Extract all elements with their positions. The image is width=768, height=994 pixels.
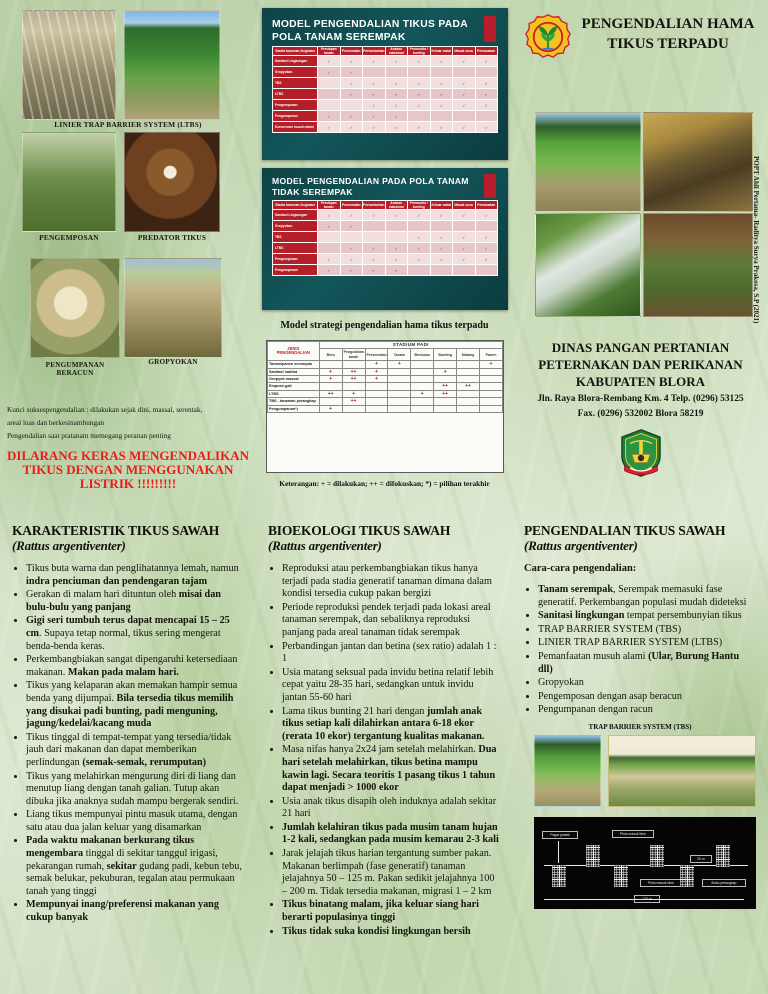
list-item: Tikus yang kelaparan akan memakan hampir… — [26, 680, 244, 730]
table-cell: ✓ — [453, 56, 476, 67]
table-cell: ✓ — [475, 56, 498, 67]
strategy-stage-5: Bunting — [434, 349, 457, 361]
key-success-line3: Pengendalian saat pratanam memegang pera… — [7, 431, 171, 440]
photo-gropyokan — [124, 258, 222, 358]
warning-line3: LISTRIK !!!!!!!!! — [0, 476, 256, 491]
table-row-label: Sanitasi Lingkungan — [273, 56, 318, 67]
table-cell: ✓ — [363, 254, 386, 265]
slide2-col-2: Persemaian — [340, 201, 363, 210]
table-cell — [453, 221, 476, 232]
author-credit: POPT Ahli Pertama- Raditya Surya Prakosa… — [752, 100, 766, 380]
table-cell: ✓ — [408, 89, 431, 100]
address-line-1: Jln. Raya Blora-Rembang Km. 4 Telp. (029… — [513, 394, 768, 404]
table-row-label: LTBS — [273, 243, 318, 254]
table-cell: ✓ — [475, 78, 498, 89]
caption-pengumpanan-l2: BERACUN — [30, 369, 120, 377]
table-cell: ✓ — [340, 122, 363, 133]
slide1-col-0: Stadia tanaman /kegiatan — [273, 47, 318, 56]
list-item: Lama tikus bunting 21 hari dengan jumlah… — [282, 706, 500, 744]
strategy-row-label: Tanam/panen serempak — [268, 361, 320, 368]
list-item: Pengumpanan dengan racun — [538, 704, 756, 717]
table-cell: ✓ — [363, 89, 386, 100]
strategy-cell — [388, 368, 411, 375]
table-cell: ✓ — [363, 111, 386, 122]
table-cell: ✓ — [340, 56, 363, 67]
pengendalian-species: (Rattus argentiventer) — [524, 538, 756, 553]
table-cell: ✓ — [430, 100, 453, 111]
table-cell: ✓ — [453, 89, 476, 100]
table-cell: ✓ — [385, 100, 408, 111]
table-row: Pengumpanan✓✓✓✓ — [273, 111, 498, 122]
slide2-col-7: Masak susu — [453, 201, 476, 210]
slide1-col-8: Pemasakan — [475, 47, 498, 56]
left-photo-column: LINIER TRAP BARRIER SYSTEM (LTBS) PENGEM… — [0, 0, 256, 513]
slide-model-tidak-serempak: MODEL PENGENDALIAN PADA POLA TANAM TIDAK… — [262, 168, 508, 310]
caption-pengemposan: PENGEMPOSAN — [22, 233, 116, 242]
diagram-arrow-pagar — [558, 841, 559, 863]
slide2-accent-bar — [484, 174, 496, 198]
table-cell — [453, 111, 476, 122]
table-row-label: LTBS — [273, 89, 318, 100]
strategy-cell — [342, 361, 365, 368]
table-cell: ✓ — [475, 232, 498, 243]
slide1-col-5: Premordia / bunting — [408, 47, 431, 56]
table-row-label: Gropyokan — [273, 67, 318, 78]
photo-rat-in-field — [643, 112, 753, 212]
strategy-group-header-row: JENIS PENGENDALIAN STADIUM PADI — [268, 342, 503, 349]
table-cell: ✓ — [363, 243, 386, 254]
karakteristik-title: KARAKTERISTIK TIKUS SAWAH — [12, 523, 219, 538]
photo-rat-traps — [643, 213, 753, 317]
table-cell: ✓ — [363, 100, 386, 111]
strategy-cell: + — [365, 376, 388, 383]
table-cell: ✓ — [430, 232, 453, 243]
slide1-col-4: Anakan maksimal — [385, 47, 408, 56]
slide1-header-row: Stadia tanaman /kegiatan Persiapan tanam… — [273, 47, 498, 56]
slide1-accent-bar — [484, 16, 496, 42]
table-cell: ✓ — [363, 78, 386, 89]
strategy-cell: + — [319, 376, 342, 383]
slide2-col-5: Premordia / bunting — [408, 201, 431, 210]
diagram-label-pintu-atas: Pintu masuk bbm — [612, 830, 654, 838]
strategy-cell — [365, 383, 388, 390]
list-item: Masa nifas hanya 2x24 jam setelah melahi… — [282, 744, 500, 794]
table-cell: ✓ — [408, 56, 431, 67]
list-item: Gropyokan — [538, 677, 756, 690]
caption-pengumpanan-l1: PENGUMPANAN — [30, 361, 120, 369]
column-bioekologi: BIOEKOLOGI TIKUS SAWAH (Rattus argentive… — [256, 513, 512, 994]
strategy-col-jenis: JENIS PENGENDALIAN — [268, 342, 320, 361]
strategy-cell — [434, 405, 457, 412]
table-row: LTBS++++++ — [268, 390, 503, 397]
pengendalian-title: PENGENDALIAN TIKUS SAWAH — [524, 523, 725, 538]
table-cell — [318, 100, 341, 111]
table-cell: ✓ — [475, 100, 498, 111]
caption-gropyokan: GROPYOKAN — [124, 358, 222, 366]
table-cell: ✓ — [385, 56, 408, 67]
table-cell: ✓ — [318, 67, 341, 78]
table-cell: ✓ — [363, 56, 386, 67]
table-row: LTBS✓✓✓✓✓✓✓ — [273, 89, 498, 100]
photo-pengemposan — [22, 132, 116, 232]
table-cell: ✓ — [340, 243, 363, 254]
slide1-title: MODEL PENGENDALIAN TIKUS PADA POLA TANAM… — [272, 18, 480, 44]
strategy-cell — [319, 383, 342, 390]
list-item: Pemanfaatan musuh alami (Ular, Burung Ha… — [538, 651, 756, 676]
slide2-body: Sanitasi Lingkungan✓✓✓✓✓✓✓✓Gropyokan✓✓TB… — [273, 210, 498, 276]
strategy-cell — [480, 383, 503, 390]
photo-predator-tikus — [124, 132, 220, 232]
strategy-cell: ++ — [342, 368, 365, 375]
slide2-table: Stadia tanaman /kegiatan Persiapan tanam… — [272, 200, 498, 276]
strategy-table: JENIS PENGENDALIAN STADIUM PADI Bera Pen… — [267, 341, 503, 413]
table-cell: ✓ — [385, 254, 408, 265]
table-cell: ✓ — [430, 56, 453, 67]
table-cell — [340, 100, 363, 111]
list-item: Periode reproduksi pendek terjadi pada l… — [282, 602, 500, 640]
list-item: Tikus binatang malam, jika keluar siang … — [282, 899, 500, 924]
brochure-page: LINIER TRAP BARRIER SYSTEM (LTBS) PENGEM… — [0, 0, 768, 994]
list-item: Perbandingan jantan dan betina (sex rati… — [282, 641, 500, 666]
table-cell: ✓ — [340, 221, 363, 232]
strategy-cell — [457, 390, 480, 397]
strategy-cell — [388, 376, 411, 383]
list-item: Liang tikus mempunyai pintu masuk utama,… — [26, 809, 244, 834]
table-cell — [385, 221, 408, 232]
column-pengendalian: PENGENDALIAN TIKUS SAWAH (Rattus argenti… — [512, 513, 768, 994]
list-item: Tanam serempak, Serempak memasuki fase g… — [538, 584, 756, 609]
table-cell: ✓ — [408, 254, 431, 265]
table-cell — [453, 265, 476, 276]
kabupaten-blora-seal-icon — [618, 428, 664, 478]
table-cell: ✓ — [453, 243, 476, 254]
table-cell — [363, 67, 386, 78]
table-cell: ✓ — [430, 78, 453, 89]
table-cell: ✓ — [318, 265, 341, 276]
table-cell — [475, 67, 498, 78]
slide1-col-7: Masak susu — [453, 47, 476, 56]
table-row: LTBS✓✓✓✓✓✓✓ — [273, 243, 498, 254]
bioekologi-title: BIOEKOLOGI TIKUS SAWAH — [268, 523, 450, 538]
tbs-photo-row — [524, 735, 756, 809]
slide1-body: Sanitasi Lingkungan✓✓✓✓✓✓✓✓Gropyokan✓✓TB… — [273, 56, 498, 133]
table-cell: ✓ — [318, 210, 341, 221]
key-success-line2: areal luas dan berkesinambungan — [7, 418, 104, 427]
table-cell: ✓ — [385, 243, 408, 254]
table-cell: ✓ — [453, 232, 476, 243]
strategy-cell: + — [319, 405, 342, 412]
table-cell: ✓ — [453, 254, 476, 265]
table-cell: ✓ — [363, 210, 386, 221]
table-cell — [385, 232, 408, 243]
caption-ltbs: LINIER TRAP BARRIER SYSTEM (LTBS) — [0, 120, 256, 129]
table-row: TBS✓✓✓✓ — [273, 232, 498, 243]
strategy-stage-6: Matang — [457, 349, 480, 361]
strategy-stage-3: Tanam — [388, 349, 411, 361]
strategy-cell — [457, 368, 480, 375]
top-section: LINIER TRAP BARRIER SYSTEM (LTBS) PENGEM… — [0, 0, 768, 513]
strategy-group-header: STADIUM PADI — [319, 342, 502, 349]
table-row-label: Sanitasi Lingkungan — [273, 210, 318, 221]
list-item: TRAP BARRIER SYSTEM (TBS) — [538, 624, 756, 637]
strategy-cell — [434, 376, 457, 383]
strategy-title: Model strategi pengendalian hama tikus t… — [256, 320, 513, 331]
table-cell — [430, 111, 453, 122]
table-row: Sanitasi Lingkungan✓✓✓✓✓✓✓✓ — [273, 56, 498, 67]
table-cell: ✓ — [408, 100, 431, 111]
strategy-stage-7: Panen — [480, 349, 503, 361]
slide2-col-8: Pemasakan — [475, 201, 498, 210]
strategy-cell: + — [480, 361, 503, 368]
strategy-cell: + — [388, 361, 411, 368]
strategy-cell — [342, 405, 365, 412]
table-cell: ✓ — [385, 122, 408, 133]
strategy-stage-2: Persemaian — [365, 349, 388, 361]
slide2-title: MODEL PENGENDALIAN PADA POLA TANAM TIDAK… — [272, 176, 478, 198]
diagram-trap-4 — [650, 845, 664, 867]
strategy-cell — [411, 398, 434, 405]
table-cell: ✓ — [430, 122, 453, 133]
slide2-col-6: Keluar malai — [430, 201, 453, 210]
address-line-2: Fax. (0296) 532002 Blora 58219 — [513, 409, 768, 419]
table-cell: ✓ — [408, 122, 431, 133]
slide1-col-6: Keluar malai — [430, 47, 453, 56]
list-item: Tikus buta warna dan penglihatannya lema… — [26, 563, 244, 588]
table-cell: ✓ — [385, 111, 408, 122]
table-cell: ✓ — [453, 78, 476, 89]
org-line-3: KABUPATEN BLORA — [513, 374, 768, 390]
warning-line2: TIKUS DENGAN MENGGUNAKAN — [0, 462, 256, 477]
list-item: Reproduksi atau perkembangbiakan tikus h… — [282, 563, 500, 601]
strategy-cell — [480, 398, 503, 405]
table-cell: ✓ — [430, 243, 453, 254]
table-cell — [408, 221, 431, 232]
table-cell: ✓ — [340, 111, 363, 122]
tbs-schematic-diagram: Pagar plastik Pintu masuk bbm Pintu masu… — [534, 817, 756, 909]
strategy-cell — [457, 361, 480, 368]
table-cell: ✓ — [475, 243, 498, 254]
table-cell — [408, 111, 431, 122]
strategy-stage-1: Pengolahan tanah — [342, 349, 365, 361]
table-cell: ✓ — [340, 78, 363, 89]
diagram-label-pintu-bawah: Pintu masuk bbm — [640, 879, 682, 887]
table-row: Sanitasi Lingkungan✓✓✓✓✓✓✓✓ — [273, 210, 498, 221]
table-row: Emposs-gali++++ — [268, 383, 503, 390]
table-row: Tanam/panen serempak+++ — [268, 361, 503, 368]
strategy-cell — [365, 390, 388, 397]
table-cell — [318, 243, 341, 254]
slide2-col-4: Anakan maksimal — [385, 201, 408, 210]
strategy-row-label: Pengumpanan*) — [268, 405, 320, 412]
table-cell — [475, 265, 498, 276]
bottom-section: KARAKTERISTIK TIKUS SAWAH (Rattus argent… — [0, 513, 768, 994]
table-cell: ✓ — [340, 210, 363, 221]
list-item: Jarak jelajah tikus harian tergantung su… — [282, 848, 500, 898]
strategy-cell — [480, 376, 503, 383]
table-cell: ✓ — [318, 254, 341, 265]
strategy-cell — [457, 376, 480, 383]
table-cell — [363, 232, 386, 243]
strategy-cell — [388, 383, 411, 390]
photo-ltbs-right — [124, 10, 220, 120]
table-cell: ✓ — [475, 122, 498, 133]
list-item: Perkembangbiakan sangat dipengaruhi kete… — [26, 654, 244, 679]
strategy-cell: ++ — [342, 376, 365, 383]
table-cell: ✓ — [408, 243, 431, 254]
strategy-row-label: Emposs-gali — [268, 383, 320, 390]
table-row: Sanitasi habitat+++++ — [268, 368, 503, 375]
strategy-stage-0: Bera — [319, 349, 342, 361]
strategy-cell: + — [365, 361, 388, 368]
table-cell — [340, 232, 363, 243]
strategy-cell — [411, 405, 434, 412]
table-cell: ✓ — [408, 78, 431, 89]
table-cell: ✓ — [385, 89, 408, 100]
list-item: Tikus yang melahirkan mengurung diri di … — [26, 771, 244, 809]
table-row-label: Pengumpanan — [273, 111, 318, 122]
list-item: Pengemposan dengan asap beracun — [538, 691, 756, 704]
pengendalian-heading: PENGENDALIAN TIKUS SAWAH (Rattus argenti… — [524, 523, 756, 553]
strategy-cell — [411, 383, 434, 390]
table-cell: ✓ — [408, 210, 431, 221]
strategy-cell — [411, 361, 434, 368]
photo-tbs-linear — [608, 735, 756, 807]
key-success-line1: Kunci suksespengendalian : dilakukan sej… — [7, 405, 202, 414]
table-cell: ✓ — [453, 100, 476, 111]
strategy-jenis-l2: PENGENDALIAN — [277, 350, 311, 355]
table-cell: ✓ — [340, 67, 363, 78]
table-cell — [363, 221, 386, 232]
strategy-stage-4: Bertunas — [411, 349, 434, 361]
table-row: Pengemposan✓✓✓✓✓✓ — [273, 100, 498, 111]
strategy-cell — [480, 405, 503, 412]
photo-tbs-field — [535, 112, 641, 212]
caption-predator-tikus: PREDATOR TIKUS — [124, 233, 220, 242]
table-row: Pengumpanan✓✓✓✓ — [273, 265, 498, 276]
list-item: Usia anak tikus disapih oleh induknya ad… — [282, 796, 500, 821]
diagram-trap-3 — [614, 865, 628, 887]
table-cell: ✓ — [453, 122, 476, 133]
karakteristik-list: Tikus buta warna dan penglihatannya lema… — [12, 563, 244, 925]
photo-fumigation — [535, 213, 641, 317]
strategy-table-wrap: JENIS PENGENDALIAN STADIUM PADI Bera Pen… — [266, 340, 504, 473]
bioekologi-list: Reproduksi atau perkembangbiakan tikus h… — [268, 563, 500, 938]
list-item: LINIER TRAP BARRIER SYSTEM (LTBS) — [538, 637, 756, 650]
table-cell: ✓ — [340, 265, 363, 276]
karakteristik-species: (Rattus argentiventer) — [12, 538, 244, 553]
diagram-trap-1 — [552, 865, 566, 887]
strategy-cell: + — [319, 368, 342, 375]
list-item: Tikus tinggal di tempat-tempat yang ters… — [26, 732, 244, 770]
strategy-cell — [480, 390, 503, 397]
table-cell: ✓ — [318, 56, 341, 67]
karakteristik-heading: KARAKTERISTIK TIKUS SAWAH (Rattus argent… — [12, 523, 244, 553]
table-cell: ✓ — [385, 265, 408, 276]
page-title-line1: PENGENDALIAN HAMA — [575, 16, 761, 33]
table-cell — [475, 111, 498, 122]
table-cell: ✓ — [475, 254, 498, 265]
table-cell — [430, 265, 453, 276]
strategy-cell — [480, 368, 503, 375]
strategy-cell: + — [365, 368, 388, 375]
table-row: Konservasi musuh alami✓✓✓✓✓✓✓✓ — [273, 122, 498, 133]
table-row-label: TBS — [273, 232, 318, 243]
table-row: Pengemposan✓✓✓✓✓✓✓✓ — [273, 254, 498, 265]
strategy-cell — [457, 405, 480, 412]
table-row-label: Pengumpanan — [273, 265, 318, 276]
table-cell: ✓ — [340, 254, 363, 265]
strategy-cell: + — [434, 368, 457, 375]
table-row-label: TBS — [273, 78, 318, 89]
table-row-label: Gropyokan — [273, 221, 318, 232]
strategy-cell — [319, 361, 342, 368]
strategy-cell — [434, 361, 457, 368]
table-cell: ✓ — [430, 254, 453, 265]
table-cell — [408, 265, 431, 276]
table-cell: ✓ — [430, 89, 453, 100]
diagram-trap-5 — [680, 865, 694, 887]
table-cell — [318, 89, 341, 100]
strategy-cell — [457, 398, 480, 405]
slide1-col-3: Pertumbuhan — [363, 47, 386, 56]
warning-line1: DILARANG KERAS MENGENDALIKAN — [0, 448, 256, 463]
slide2-col-1: Persiapan tanam — [318, 201, 341, 210]
table-cell: ✓ — [475, 210, 498, 221]
table-cell: ✓ — [318, 221, 341, 232]
table-row: Gropyok massal++++ — [268, 376, 503, 383]
table-cell: ✓ — [408, 232, 431, 243]
strategy-cell — [388, 405, 411, 412]
table-row-label: Pengemposan — [273, 100, 318, 111]
table-cell — [453, 67, 476, 78]
table-cell: ✓ — [453, 210, 476, 221]
tbs-figure-caption: TRAP BARRIER SYSTEM (TBS) — [524, 723, 756, 731]
strategy-cell: + — [411, 390, 434, 397]
table-cell: ✓ — [363, 122, 386, 133]
table-cell: ✓ — [318, 111, 341, 122]
middle-tables-column: MODEL PENGENDALIAN TIKUS PADA POLA TANAM… — [256, 0, 513, 513]
table-cell — [385, 67, 408, 78]
photo-ltbs-left — [22, 10, 116, 120]
table-cell — [318, 78, 341, 89]
photo-tbs-plot — [534, 735, 601, 807]
list-item: Usia matang seksual pada invidu betina r… — [282, 667, 500, 705]
slide1-table: Stadia tanaman /kegiatan Persiapan tanam… — [272, 46, 498, 133]
strategy-row-label: LTBS — [268, 390, 320, 397]
strategy-row-label: Sanitasi habitat — [268, 368, 320, 375]
table-cell: ✓ — [340, 89, 363, 100]
slide2-col-0: Stadia tanaman /kegiatan — [273, 201, 318, 210]
strategy-cell — [365, 405, 388, 412]
table-cell: ✓ — [385, 210, 408, 221]
photo-pengumpanan-beracun — [30, 258, 120, 358]
diagram-label-jarak-20: 20 m — [690, 855, 712, 863]
strategy-cell: ++ — [434, 383, 457, 390]
org-line-2: PETERNAKAN DAN PERIKANAN — [513, 357, 768, 373]
diagram-label-bubu: Bubu perangkap — [702, 879, 746, 887]
slide1-col-1: Persiapan tanam — [318, 47, 341, 56]
diagram-trap-6 — [716, 845, 730, 867]
list-item: Mempunyai inang/preferensi makanan yang … — [26, 899, 244, 924]
table-row-label: Pengemposan — [273, 254, 318, 265]
strategy-cell: + — [342, 390, 365, 397]
strategy-cell — [388, 390, 411, 397]
page-title-line2: TIKUS TERPADU — [575, 36, 761, 53]
right-header-column: PENGENDALIAN HAMA TIKUS TERPADU DINAS PA… — [513, 0, 768, 513]
table-cell: ✓ — [475, 89, 498, 100]
diagram-label-pagar: Pagar plastik — [542, 831, 578, 839]
slide-model-serempak: MODEL PENGENDALIAN TIKUS PADA POLA TANAM… — [262, 8, 508, 160]
